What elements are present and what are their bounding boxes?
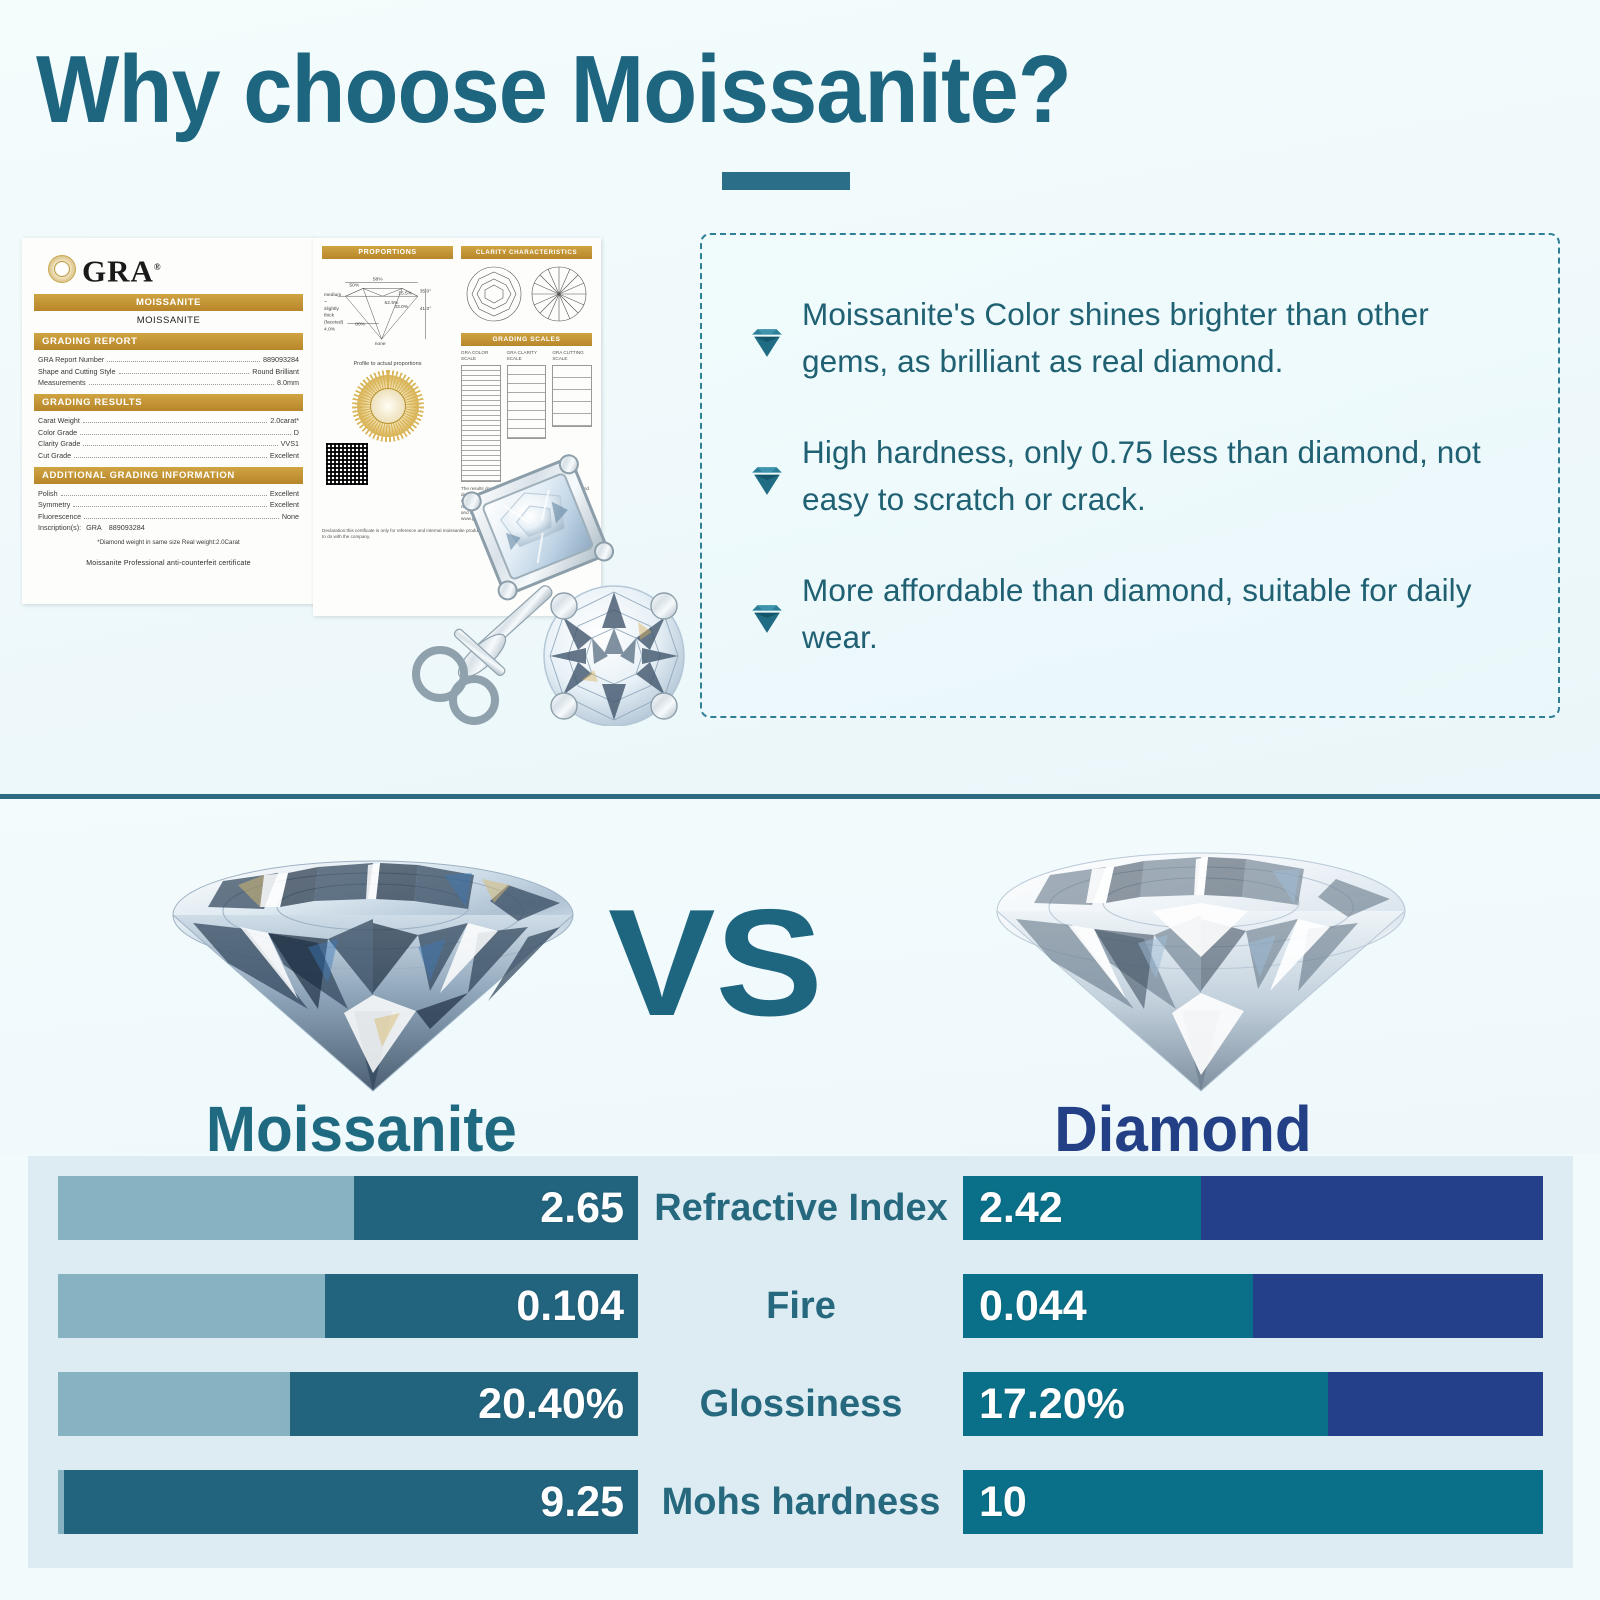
- moissanite-bar-refractive-index: 2.65: [58, 1176, 638, 1240]
- row-key: Carat Weight: [38, 416, 80, 425]
- section-heading-grading-report: GRADING REPORT: [34, 333, 303, 350]
- bar-value: 9.25: [540, 1470, 624, 1534]
- gra-brand-text: GRA: [82, 253, 154, 288]
- row-key: Cut Grade: [38, 451, 71, 460]
- certificate-footer-text: Moissanite Professional anti-counterfeit…: [34, 560, 303, 567]
- scale-column-color: GRA COLOR SCALE: [461, 350, 501, 482]
- clarity-plot-pair: [461, 265, 592, 323]
- versus-section: VS: [0, 799, 1600, 1154]
- row-key: Symmetry: [38, 500, 70, 509]
- metric-label-mohs-hardness: Mohs hardness: [640, 1470, 962, 1534]
- table-row: 0.104 Fire 0.044: [28, 1274, 1573, 1338]
- certificate-front-page: GRA® MOISSANITE MOISSANITE GRADING REPOR…: [22, 238, 315, 604]
- grading-scale-columns: GRA COLOR SCALE GRA CLARITY SCALE GRA CU…: [461, 350, 592, 482]
- list-item: Moissanite's Color shines brighter than …: [750, 291, 1518, 385]
- profile-caption: Profile to actual proportions: [322, 361, 453, 367]
- bar-value: 0.044: [979, 1274, 1087, 1338]
- gem-icon: [750, 437, 784, 523]
- vs-label: VS: [608, 887, 823, 1039]
- certificate-footnote: *Diamond weight in same size Real weight…: [34, 539, 303, 546]
- table-row: Clarity GradeVVS1: [34, 439, 303, 448]
- gem-label-moissanite: Moissanite: [206, 1097, 517, 1161]
- row-key: Measurements: [38, 378, 86, 387]
- leader-dots: [83, 445, 277, 446]
- grading-scales-heading: GRADING SCALES: [461, 333, 592, 346]
- clarity-heading: CLARITY CHARACTERISTICS: [461, 246, 592, 259]
- benefit-text: High hardness, only 0.75 less than diamo…: [802, 429, 1518, 523]
- table-row: SymmetryExcellent: [34, 500, 303, 509]
- certificate-logo: GRA®: [48, 252, 303, 286]
- diamond-profile-svg: 58% 50% 35.0° 15.5% 43.0% 41.0° 62.5% 80…: [324, 263, 451, 357]
- leader-dots: [119, 373, 250, 374]
- moissanite-bar-mohs-hardness: 9.25: [58, 1470, 638, 1534]
- scale-column-title: GRA CUTTING SCALE: [552, 350, 592, 362]
- svg-text:~: ~: [324, 300, 327, 305]
- benefit-text: More affordable than diamond, suitable f…: [802, 567, 1518, 661]
- certificate-image-group: GRA® MOISSANITE MOISSANITE GRADING REPOR…: [22, 238, 682, 728]
- bar-value: 2.65: [540, 1176, 624, 1240]
- svg-text:80%: 80%: [355, 322, 365, 328]
- row-key: Fluorescence: [38, 512, 81, 521]
- list-item: High hardness, only 0.75 less than diamo…: [750, 429, 1518, 523]
- table-row: 9.25 Mohs hardness 10: [28, 1470, 1573, 1534]
- scale-ladder: [507, 365, 547, 439]
- scale-ladder: [461, 365, 501, 482]
- inscription-number: 889093284: [109, 523, 145, 532]
- leader-dots: [84, 518, 279, 519]
- svg-text:62.5%: 62.5%: [385, 300, 399, 306]
- row-key: Shape and Cutting Style: [38, 367, 116, 376]
- table-row: Shape and Cutting StyleRound Brilliant: [34, 367, 303, 376]
- table-row: Measurements8.0mm: [34, 378, 303, 387]
- row-value: VVS1: [281, 439, 299, 448]
- gra-wordmark: GRA®: [82, 252, 162, 286]
- clarity-plot-pavilion-icon: [530, 265, 588, 323]
- scale-ladder: [552, 365, 592, 427]
- diamond-bar-refractive-index: 2.42: [963, 1176, 1543, 1240]
- row-value: 889093284: [263, 355, 299, 364]
- metric-label-refractive-index: Refractive Index: [640, 1176, 962, 1240]
- certificate-subtitle: MOISSANITE: [34, 315, 303, 326]
- scale-column-clarity: GRA CLARITY SCALE: [507, 350, 547, 482]
- moissanite-bar-glossiness: 20.40%: [58, 1372, 638, 1436]
- registered-mark: ®: [154, 262, 162, 272]
- table-row: 2.65 Refractive Index 2.42: [28, 1176, 1573, 1240]
- row-key: Polish: [38, 489, 58, 498]
- svg-text:15.5%: 15.5%: [398, 290, 412, 296]
- svg-text:none: none: [375, 342, 386, 347]
- benefit-text: Moissanite's Color shines brighter than …: [802, 291, 1518, 385]
- svg-text:slightly: slightly: [324, 306, 339, 312]
- comparison-chart: 2.65 Refractive Index 2.42 0.104 Fire 0.…: [28, 1156, 1573, 1568]
- title-underline-rule: [722, 172, 850, 190]
- table-row: Carat Weight2.0carat*: [34, 416, 303, 425]
- section-heading-grading-results: GRADING RESULTS: [34, 394, 303, 411]
- clarity-plot-crown-icon: [465, 265, 523, 323]
- inscription-label: Inscription(s):: [38, 523, 81, 532]
- grading-report-rows: GRA Report Number889093284 Shape and Cut…: [34, 355, 303, 387]
- leader-dots: [89, 384, 274, 385]
- row-key: Clarity Grade: [38, 439, 80, 448]
- row-value: 2.0carat*: [270, 416, 299, 425]
- leader-dots: [73, 506, 266, 507]
- certificate-legal-text: The results documented in this report re…: [461, 486, 592, 522]
- additional-info-rows: PolishExcellent SymmetryExcellent Fluore…: [34, 489, 303, 533]
- list-item: More affordable than diamond, suitable f…: [750, 567, 1518, 661]
- svg-text:50%: 50%: [349, 282, 359, 288]
- moissanite-gem-photo: [168, 823, 578, 1093]
- row-key: Color Grade: [38, 428, 77, 437]
- svg-text:35.0°: 35.0°: [420, 288, 431, 294]
- row-value: 8.0mm: [277, 378, 299, 387]
- table-row: GRA Report Number889093284: [34, 355, 303, 364]
- moissanite-bar-fire: 0.104: [58, 1274, 638, 1338]
- leader-dots: [83, 422, 267, 423]
- bar-value: 17.20%: [979, 1372, 1125, 1436]
- inscription-row: Inscription(s): GRA 889093284: [34, 523, 303, 532]
- scale-column-title: GRA CLARITY SCALE: [507, 350, 547, 362]
- diamond-bar-glossiness: 17.20%: [963, 1372, 1543, 1436]
- metric-label-fire: Fire: [640, 1274, 962, 1338]
- metric-label-glossiness: Glossiness: [640, 1372, 962, 1436]
- svg-text:(faceted): (faceted): [324, 320, 344, 326]
- benefits-panel: Moissanite's Color shines brighter than …: [700, 233, 1560, 718]
- row-value: None: [282, 512, 299, 521]
- certificate-back-page: PROPORTIONS: [313, 238, 601, 616]
- row-value: D: [294, 428, 299, 437]
- scale-column-title: GRA COLOR SCALE: [461, 350, 501, 362]
- diamond-gem-photo: [992, 813, 1410, 1093]
- row-value: Excellent: [270, 451, 299, 460]
- row-value: Excellent: [270, 500, 299, 509]
- proportions-diagram: 58% 50% 35.0° 15.5% 43.0% 41.0° 62.5% 80…: [324, 263, 451, 359]
- svg-text:4.0%: 4.0%: [324, 326, 336, 332]
- leader-dots: [74, 457, 267, 458]
- inscription-brand: GRA: [86, 523, 102, 532]
- page-footer-strip: [0, 1568, 1600, 1600]
- section-heading-additional-info: ADDITIONAL GRADING INFORMATION: [34, 467, 303, 484]
- bar-value: 2.42: [979, 1176, 1063, 1240]
- certificate-declaration-text: Declaration:this certificate is only for…: [322, 528, 592, 540]
- row-key: GRA Report Number: [38, 355, 104, 364]
- leader-dots: [61, 495, 267, 496]
- svg-text:41.0°: 41.0°: [420, 306, 431, 312]
- bar-value: 0.104: [516, 1274, 624, 1338]
- proportions-heading: PROPORTIONS: [322, 246, 453, 259]
- gra-gold-seal-icon: [357, 375, 419, 437]
- svg-text:58%: 58%: [373, 277, 383, 283]
- svg-text:thick: thick: [324, 313, 335, 319]
- grading-results-rows: Carat Weight2.0carat* Color GradeD Clari…: [34, 416, 303, 460]
- table-row: FluorescenceNone: [34, 512, 303, 521]
- leader-dots: [80, 434, 291, 435]
- certificate-banner-title: MOISSANITE: [34, 294, 303, 311]
- scale-column-cutting: GRA CUTTING SCALE: [552, 350, 592, 482]
- table-row: PolishExcellent: [34, 489, 303, 498]
- bar-fill: [963, 1470, 1543, 1534]
- gem-label-diamond: Diamond: [1054, 1097, 1311, 1161]
- row-value: Excellent: [270, 489, 299, 498]
- svg-text:medium: medium: [324, 292, 341, 298]
- table-row: Color GradeD: [34, 428, 303, 437]
- diamond-bar-mohs-hardness: 10: [963, 1470, 1543, 1534]
- table-row: 20.40% Glossiness 17.20%: [28, 1372, 1573, 1436]
- row-value: Round Brilliant: [252, 367, 299, 376]
- bar-value: 20.40%: [478, 1372, 624, 1436]
- diamond-bar-fire: 0.044: [963, 1274, 1543, 1338]
- gem-icon: [750, 575, 784, 661]
- gra-seal-icon: [48, 255, 76, 283]
- hero-section: Why choose Moissanite? GRA® MOISSANITE M…: [0, 0, 1600, 797]
- leader-dots: [107, 361, 260, 362]
- bar-value: 10: [979, 1470, 1027, 1534]
- qr-code-icon: [326, 443, 368, 485]
- gem-icon: [750, 299, 784, 385]
- table-row: Cut GradeExcellent: [34, 451, 303, 460]
- page-title: Why choose Moissanite?: [36, 38, 1444, 142]
